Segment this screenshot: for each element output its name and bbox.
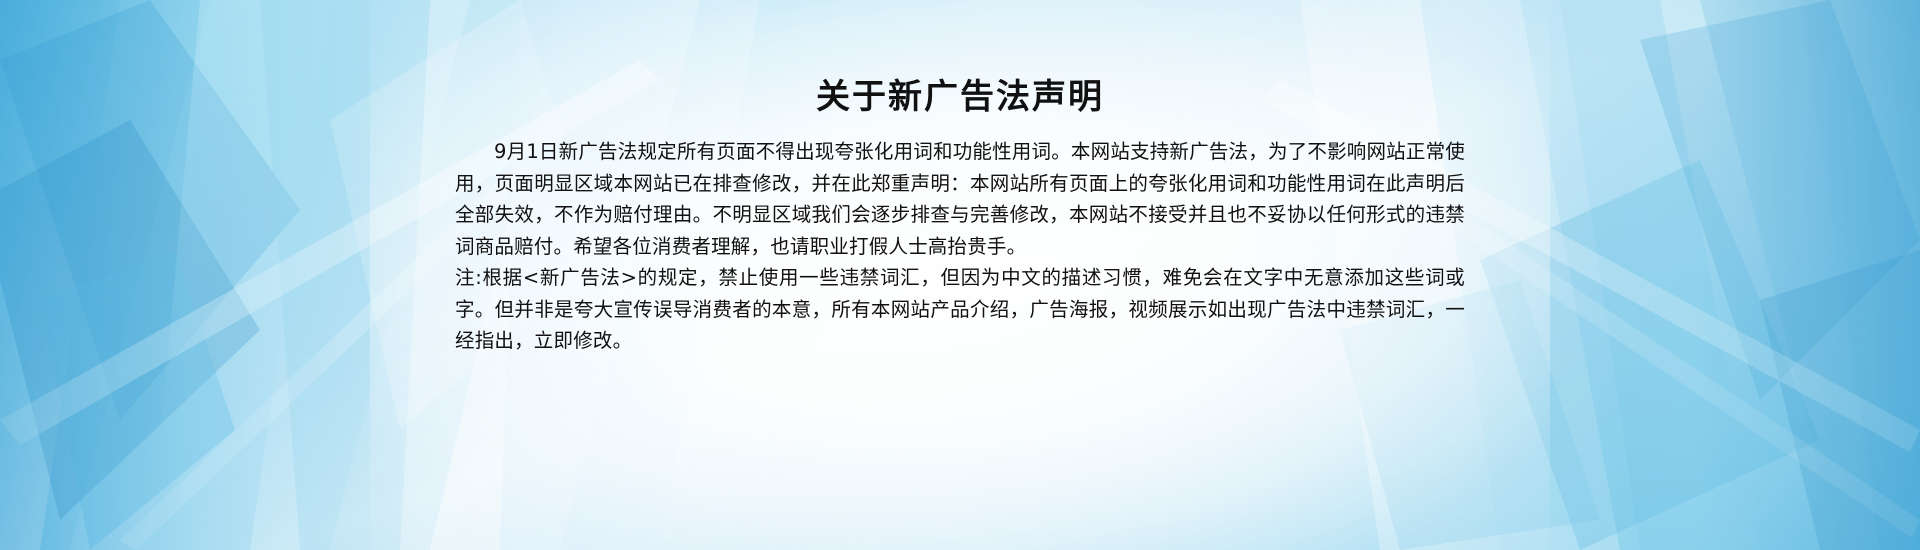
statement-paragraph-1: 9月1日新广告法规定所有页面不得出现夸张化用词和功能性用词。本网站支持新广告法，… [455, 136, 1465, 262]
statement-content: 关于新广告法声明 9月1日新广告法规定所有页面不得出现夸张化用词和功能性用词。本… [455, 74, 1465, 357]
page-title: 关于新广告法声明 [455, 74, 1465, 120]
advertising-law-statement-banner: 关于新广告法声明 9月1日新广告法规定所有页面不得出现夸张化用词和功能性用词。本… [0, 0, 1920, 550]
statement-paragraph-2: 注:根据<新广告法>的规定，禁止使用一些违禁词汇，但因为中文的描述习惯，难免会在… [455, 262, 1465, 357]
